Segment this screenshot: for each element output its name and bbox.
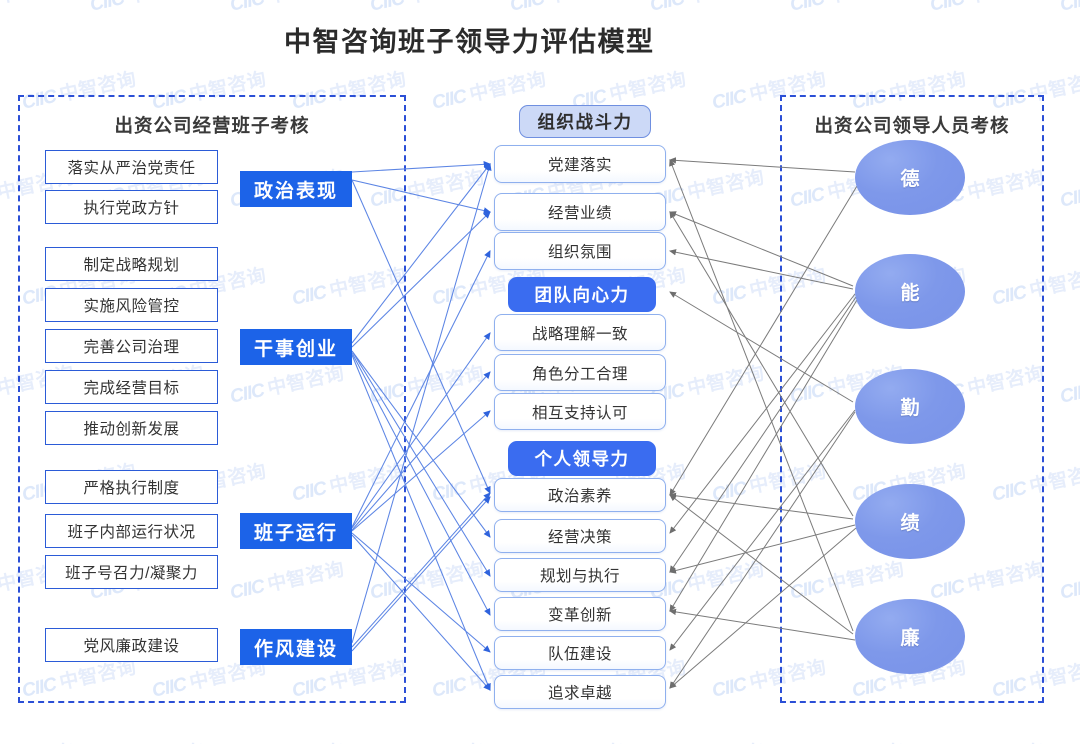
group-header-team-cohesion[interactable]: 团队向心力 bbox=[508, 277, 656, 312]
watermark-text: CIIC 中智咨询 bbox=[1057, 554, 1080, 605]
leader-node-qin[interactable]: 勤 bbox=[855, 369, 965, 444]
watermark-text: CIIC 中智咨询 bbox=[927, 736, 1046, 744]
middle-item-box[interactable]: 党建落实 bbox=[494, 145, 666, 183]
middle-item-box[interactable]: 战略理解一致 bbox=[494, 314, 666, 351]
left-panel-title: 出资公司经营班子考核 bbox=[18, 112, 406, 138]
watermark-text: CIIC 中智咨询 bbox=[1057, 358, 1080, 409]
left-item-box[interactable]: 执行党政方针 bbox=[45, 190, 218, 224]
watermark-text: CIIC 中智咨询 bbox=[787, 736, 906, 744]
left-item-box[interactable]: 制定战略规划 bbox=[45, 247, 218, 281]
watermark-text: CIIC 中智咨询 bbox=[87, 0, 206, 17]
middle-item-box[interactable]: 变革创新 bbox=[494, 597, 666, 631]
right-panel-title: 出资公司领导人员考核 bbox=[780, 112, 1044, 138]
leader-node-ji[interactable]: 绩 bbox=[855, 484, 965, 559]
left-item-box[interactable]: 班子内部运行状况 bbox=[45, 514, 218, 548]
watermark-text: CIIC 中智咨询 bbox=[647, 736, 766, 744]
middle-item-box[interactable]: 组织氛围 bbox=[494, 232, 666, 270]
middle-item-box[interactable]: 队伍建设 bbox=[494, 636, 666, 670]
middle-item-box[interactable]: 追求卓越 bbox=[494, 675, 666, 709]
middle-item-box[interactable]: 经营业绩 bbox=[494, 193, 666, 231]
watermark-text: CIIC 中智咨询 bbox=[507, 0, 626, 17]
group-header-personal-leadership[interactable]: 个人领导力 bbox=[508, 441, 656, 476]
leader-node-neng[interactable]: 能 bbox=[855, 254, 965, 329]
watermark-text: CIIC 中智咨询 bbox=[507, 736, 626, 744]
watermark-text: CIIC 中智咨询 bbox=[367, 736, 486, 744]
category-label-work-style[interactable]: 作风建设 bbox=[240, 629, 352, 665]
page-title: 中智咨询班子领导力评估模型 bbox=[284, 20, 655, 59]
watermark-text: CIIC 中智咨询 bbox=[787, 0, 906, 17]
left-item-box[interactable]: 班子号召力/凝聚力 bbox=[45, 555, 218, 589]
leader-node-lian[interactable]: 廉 bbox=[855, 599, 965, 674]
watermark-text: CIIC 中智咨询 bbox=[1057, 162, 1080, 213]
middle-item-box[interactable]: 经营决策 bbox=[494, 519, 666, 553]
watermark-text: CIIC 中智咨询 bbox=[227, 736, 346, 744]
watermark-text: CIIC 中智咨询 bbox=[367, 0, 486, 17]
left-item-box[interactable]: 落实从严治党责任 bbox=[45, 150, 218, 184]
middle-item-box[interactable]: 政治素养 bbox=[494, 478, 666, 512]
left-item-box[interactable]: 实施风险管控 bbox=[45, 288, 218, 322]
watermark-text: CIIC 中智咨询 bbox=[927, 0, 1046, 17]
middle-item-box[interactable]: 角色分工合理 bbox=[494, 354, 666, 391]
left-item-box[interactable]: 严格执行制度 bbox=[45, 470, 218, 504]
watermark-text: CIIC 中智咨询 bbox=[0, 0, 77, 17]
watermark-text: CIIC 中智咨询 bbox=[227, 0, 346, 17]
leader-node-de[interactable]: 德 bbox=[855, 140, 965, 215]
left-item-box[interactable]: 完成经营目标 bbox=[45, 370, 218, 404]
watermark-text: CIIC 中智咨询 bbox=[1057, 736, 1080, 744]
category-label-entrepreneurship[interactable]: 干事创业 bbox=[240, 329, 352, 365]
left-item-box[interactable]: 推动创新发展 bbox=[45, 411, 218, 445]
category-label-political[interactable]: 政治表现 bbox=[240, 171, 352, 207]
middle-item-box[interactable]: 相互支持认可 bbox=[494, 393, 666, 430]
category-label-team-operation[interactable]: 班子运行 bbox=[240, 513, 352, 549]
group-header-org-combat[interactable]: 组织战斗力 bbox=[519, 105, 651, 138]
watermark-text: CIIC 中智咨询 bbox=[1057, 0, 1080, 17]
watermark-text: CIIC 中智咨询 bbox=[647, 0, 766, 17]
left-item-box[interactable]: 党风廉政建设 bbox=[45, 628, 218, 662]
watermark-text: CIIC 中智咨询 bbox=[0, 736, 77, 744]
middle-item-box[interactable]: 规划与执行 bbox=[494, 558, 666, 592]
watermark-text: CIIC 中智咨询 bbox=[87, 736, 206, 744]
left-item-box[interactable]: 完善公司治理 bbox=[45, 329, 218, 363]
